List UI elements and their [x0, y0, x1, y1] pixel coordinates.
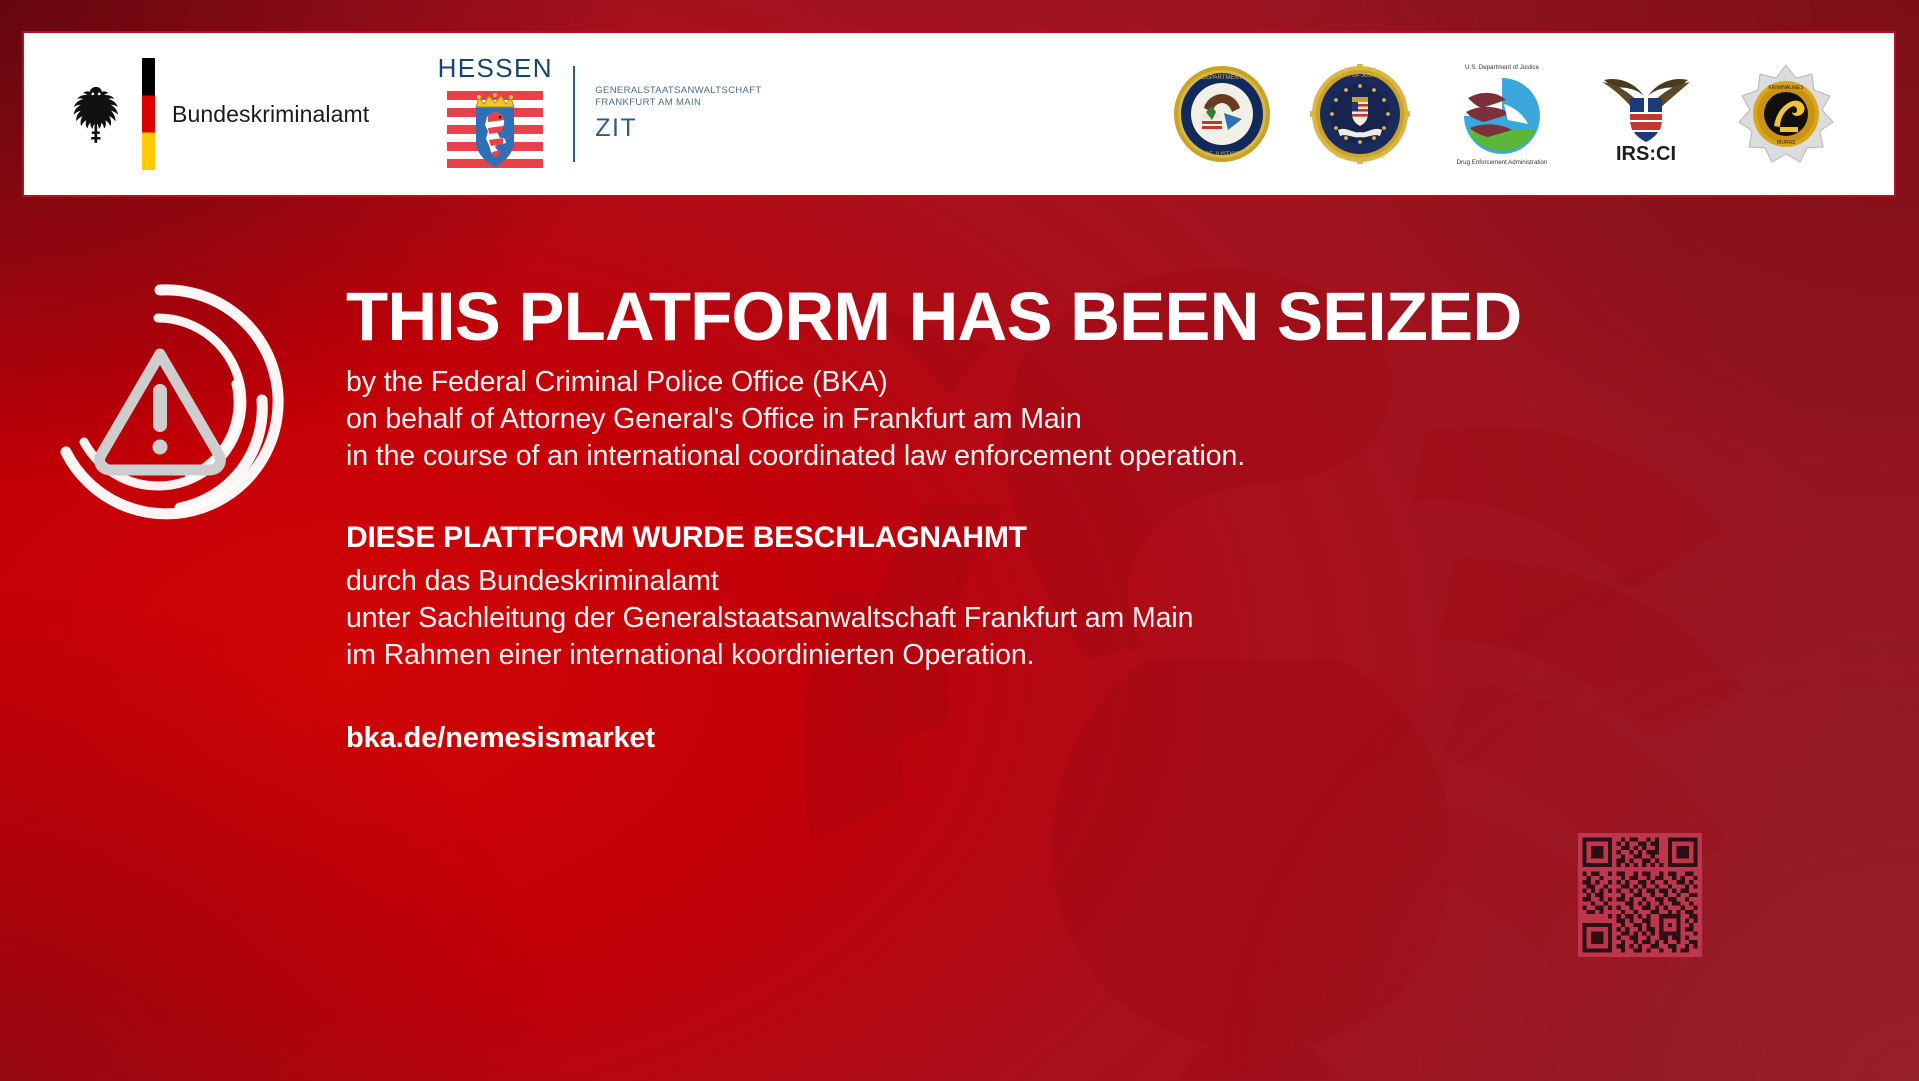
svg-text:DEPT OF JUSTICE: DEPT OF JUSTICE — [1336, 73, 1385, 79]
hessen-state-label: HESSEN — [438, 53, 553, 84]
irs-ci-logo: IRS:CI — [1594, 64, 1698, 164]
svg-text:OF JUSTICE: OF JUSTICE — [1204, 152, 1239, 158]
svg-text:IRS:CI: IRS:CI — [1616, 143, 1676, 164]
bundesadler-icon — [68, 83, 124, 145]
svg-text:FEDERAL BUREAU: FEDERAL BUREAU — [1335, 154, 1385, 160]
fbi-seal: DEPT OF JUSTICE FEDERAL BUREAU — [1310, 64, 1410, 164]
zit-abbreviation: ZIT — [595, 114, 761, 143]
german-flag-bar-icon — [142, 58, 155, 170]
warning-triangle-icon — [30, 272, 290, 532]
svg-text:U.S. Department of Justice: U.S. Department of Justice — [1465, 64, 1539, 71]
german-line-1: durch das Bundeskriminalamt — [346, 563, 1746, 600]
bka-wordmark: Bundeskriminalamt — [172, 101, 369, 128]
zit-office-line-2: FRANKFURT AM MAIN — [595, 97, 761, 109]
english-line-1: by the Federal Criminal Police Office (B… — [346, 364, 1746, 401]
page-title: THIS PLATFORM HAS BEEN SEIZED — [346, 278, 1746, 356]
partner-agency-seals: DEPARTMENT OF JUSTICE — [1172, 60, 1836, 168]
german-notice-block: DIESE PLATTFORM WURDE BESCHLAGNAHMT durc… — [346, 517, 1746, 674]
english-line-3: in the course of an international coordi… — [346, 438, 1746, 475]
svg-text:Drug Enforcement Administratio: Drug Enforcement Administration — [1457, 159, 1548, 166]
seizure-notice-content: THIS PLATFORM HAS BEEN SEIZED by the Fed… — [346, 278, 1746, 755]
dea-logo: U.S. Department of Justice Drug Enforcem… — [1448, 60, 1556, 168]
seizure-notice-page: Bundeskriminalamt HESSEN — [0, 0, 1919, 1081]
svg-text:BIURAS: BIURAS — [1777, 140, 1796, 146]
german-line-3: im Rahmen einer international koordinier… — [346, 637, 1746, 674]
doj-seal: DEPARTMENT OF JUSTICE — [1172, 64, 1272, 164]
logo-divider — [573, 66, 575, 162]
qr-code-icon[interactable] — [1578, 833, 1702, 957]
svg-text:KRIMINALINES: KRIMINALINES — [1768, 85, 1804, 91]
bka-logo: Bundeskriminalamt — [68, 58, 369, 170]
svg-text:DEPARTMENT: DEPARTMENT — [1202, 75, 1243, 81]
english-line-2: on behalf of Attorney General's Office i… — [346, 401, 1746, 438]
german-line-2: unter Sachleitung der Generalstaatsanwal… — [346, 600, 1746, 637]
info-url-link[interactable]: bka.de/nemesismarket — [346, 722, 1746, 755]
lithuanian-criminal-police-badge: KRIMINALINES BIURAS — [1736, 64, 1836, 164]
hessen-zit-logo: HESSEN — [441, 53, 761, 175]
english-notice-block: by the Federal Criminal Police Office (B… — [346, 364, 1746, 475]
german-heading: DIESE PLATTFORM WURDE BESCHLAGNAHMT — [346, 517, 1746, 559]
hessen-coat-of-arms-icon — [445, 89, 545, 175]
zit-office-line-1: GENERALSTAATSANWALTSCHAFT — [595, 85, 761, 97]
agency-logo-header: Bundeskriminalamt HESSEN — [22, 31, 1896, 197]
